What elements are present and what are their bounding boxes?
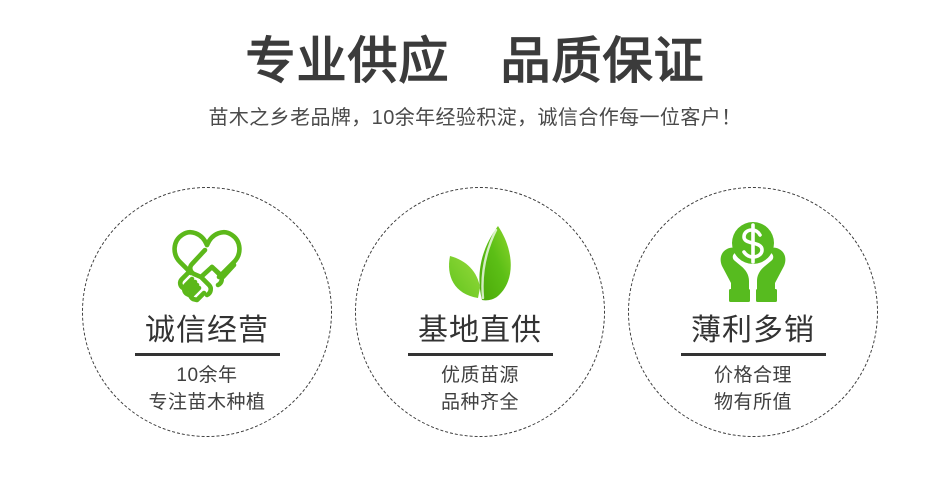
feature-card-title: 薄利多销	[691, 308, 815, 347]
feature-circle-row: 诚信经营 10余年 专注苗木种植	[0, 187, 950, 439]
feature-card-title: 诚信经营	[145, 308, 269, 347]
page-subtitle: 苗木之乡老品牌，10余年经验积淀，诚信合作每一位客户！	[0, 89, 950, 130]
feature-card-direct-supply[interactable]: 基地直供 优质苗源 品种齐全	[355, 187, 605, 437]
promo-banner: 专业供应 品质保证 苗木之乡老品牌，10余年经验积淀，诚信合作每一位客户！	[0, 0, 950, 492]
subtext-line: 优质苗源	[441, 363, 519, 390]
banner-header: 专业供应 品质保证 苗木之乡老品牌，10余年经验积淀，诚信合作每一位客户！	[0, 0, 950, 130]
feature-card-integrity[interactable]: 诚信经营 10余年 专注苗木种植	[82, 187, 332, 437]
feature-card-subtext: 10余年 专注苗木种植	[148, 356, 265, 417]
feature-card-subtext: 优质苗源 品种齐全	[441, 356, 519, 417]
leaf-sprout-icon	[436, 216, 524, 308]
feature-card-low-margin[interactable]: 薄利多销 价格合理 物有所值	[628, 187, 878, 437]
feature-card-subtext: 价格合理 物有所值	[714, 356, 792, 417]
hands-holding-money-icon	[707, 216, 799, 308]
feature-card-title: 基地直供	[418, 308, 542, 347]
subtext-line: 10余年	[148, 363, 265, 390]
page-title: 专业供应 品质保证	[0, 0, 950, 89]
subtext-line: 品种齐全	[441, 390, 519, 417]
subtext-line: 价格合理	[714, 363, 792, 390]
handshake-heart-icon	[161, 216, 253, 308]
subtext-line: 物有所值	[714, 390, 792, 417]
subtext-line: 专注苗木种植	[148, 390, 265, 417]
